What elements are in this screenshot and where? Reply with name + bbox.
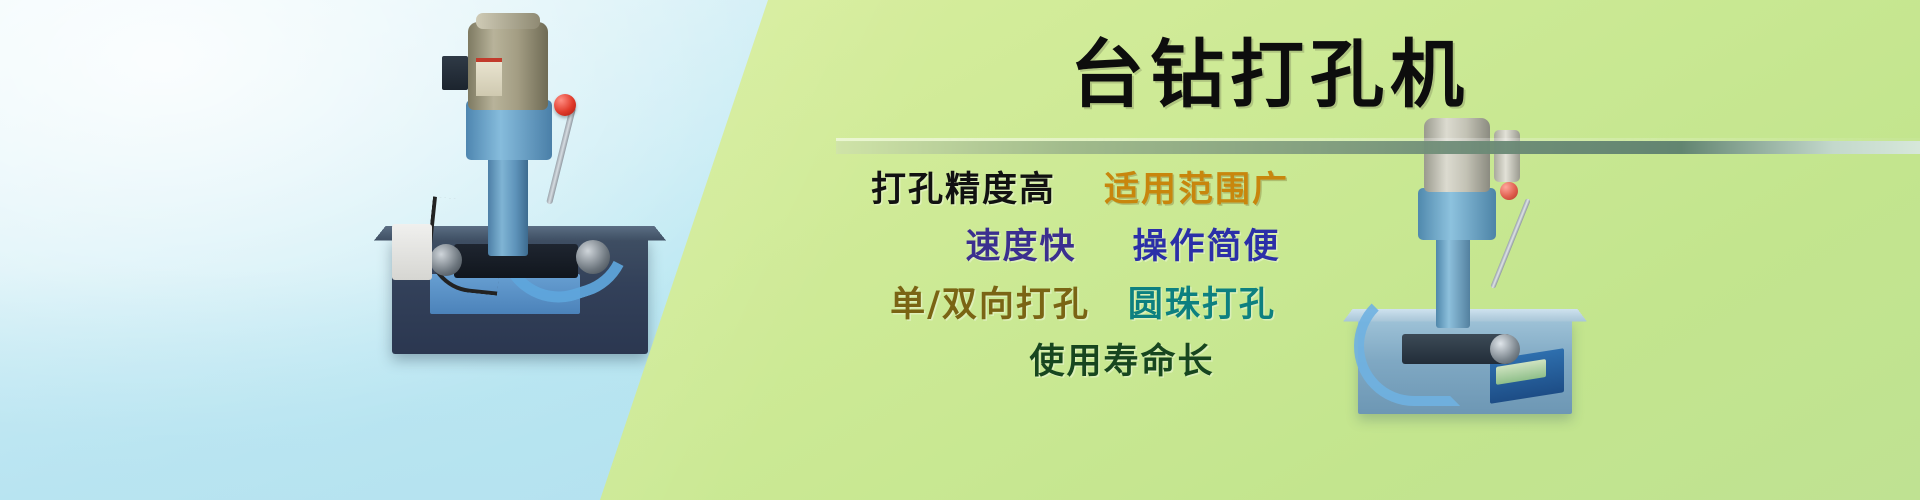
feature-item-precision: 打孔精度高	[871, 170, 1056, 210]
machine-lever-knob-left	[554, 94, 576, 116]
machine-lever-right	[1490, 198, 1531, 289]
machine-junction-box-left	[442, 56, 468, 90]
banner-title: 台钻打孔机	[930, 38, 1610, 112]
product-image-left	[370, 8, 670, 378]
machine-handwheel-right	[576, 240, 610, 274]
feature-item-single-double-drilling: 单/双向打孔	[890, 285, 1090, 325]
feature-row-3: 单/双向打孔 圆珠打孔	[700, 285, 1460, 325]
feature-item-long-lifespan: 使用寿命长	[1029, 342, 1214, 382]
machine-nameplate-left	[476, 58, 502, 96]
feature-list: 打孔精度高 适用范围广 速度快 操作简便 单/双向打孔 圆珠打孔 使用寿命长	[700, 170, 1460, 399]
machine-handwheel-right-unit	[1490, 334, 1520, 364]
feature-row-1: 打孔精度高 适用范围广	[700, 170, 1460, 210]
feature-item-speed: 速度快	[965, 227, 1076, 267]
machine-lever-knob-right	[1500, 182, 1518, 200]
machine-control-box-left	[392, 224, 432, 280]
product-banner: 台钻打孔机 打孔精度高 适用范围广 速度快 操作简便 单/双向打孔 圆珠打孔 使…	[0, 0, 1920, 500]
machine-handwheel-left	[430, 244, 462, 276]
feature-item-bead-drilling: 圆珠打孔	[1128, 285, 1276, 325]
title-divider	[836, 141, 1920, 154]
feature-item-application-range: 适用范围广	[1104, 170, 1289, 210]
feature-item-easy-operation: 操作简便	[1133, 227, 1281, 267]
feature-row-4: 使用寿命长	[700, 342, 1460, 382]
feature-row-2: 速度快 操作简便	[700, 227, 1460, 267]
